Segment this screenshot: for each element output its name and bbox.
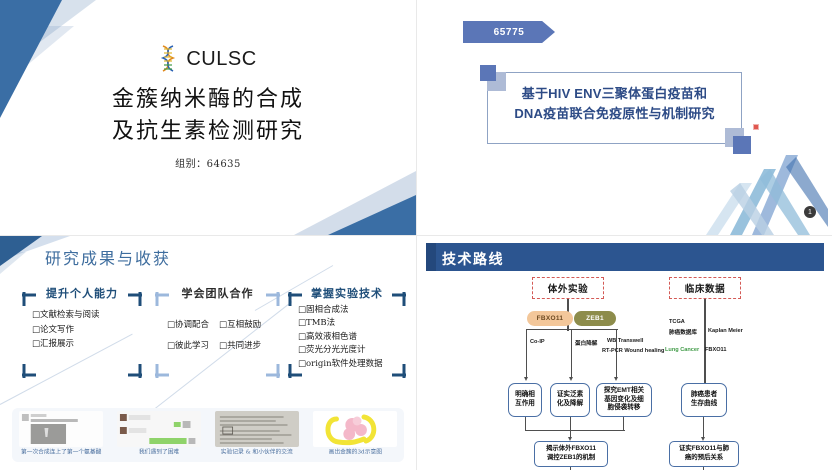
bracket-corner-tr-icon: [128, 292, 142, 306]
page-title: 基于HIV ENV三聚体蛋白疫苗和 DNA疫苗联合免疫原性与机制研究: [489, 84, 740, 124]
roadmap-diagram: 体外实验 临床数据 FBXO11 ZEB1 Co-IP 蛋白降解 WB Tran…: [426, 271, 824, 463]
results-box-teamwork: 学会团队合作 □协调配合 □互相鼓励 □彼此学习 □共同进步: [155, 292, 280, 378]
title-line-1: 金簇纳米酶的合成: [0, 84, 416, 116]
arrowhead-1: [524, 377, 528, 381]
gallery-caption: 我们遇到了困难: [139, 448, 179, 456]
slide-hiv-vaccine-title[interactable]: 65775 基于HIV ENV三聚体蛋白疫苗和 DNA疫苗联合免疫原性与机制研究…: [416, 0, 832, 235]
slide-research-results[interactable]: 研究成果与收获 提升个人能力 □文献检索与阅读 □论文写作 □汇报展示 学会团队…: [0, 235, 416, 470]
conclusion-box-invitro: 揭示体外FBXO11 调控ZEB1的机制: [534, 441, 608, 467]
list-item: □协调配合: [167, 318, 209, 333]
slide-thumbnail-grid: CULSC 金簇纳米酶的合成 及抗生素检测研究 组别：64635 65775 基…: [0, 0, 832, 470]
title-line-2: DNA疫苗联合免疫原性与机制研究: [489, 104, 740, 124]
list-item: □origin软件处理数据: [298, 358, 402, 371]
connector-clinical-trunk: [704, 299, 706, 389]
list-item: □论文写作: [32, 323, 138, 338]
logo-text: CULSC: [186, 48, 256, 71]
edge-label-lung-cancer-db: 肺癌数据库: [669, 328, 697, 336]
group-number-label: 组别：64635: [0, 155, 416, 170]
step-box-text: 证实泛素 化及降解: [557, 391, 583, 409]
list-item: □文献检索与阅读: [32, 308, 138, 323]
gallery-caption: 第一次合成连上了第一个氨基酸: [21, 448, 101, 456]
bracket-corner-bl-icon: [155, 364, 169, 378]
step-box-text: 明确相 互作用: [515, 391, 535, 409]
results-box-experiment-skills: 掌握实验技术 □固相合成法 □TMB法 □高效液相色谱 □荧光分光光度计 □or…: [288, 292, 406, 378]
edge-label-lung-cancer: Lung Cancer: [665, 347, 699, 353]
decor-square-topleft-front: [480, 65, 496, 81]
gallery-item[interactable]: 第一次合成连上了第一个氨基酸: [12, 408, 110, 462]
source-box-in-vitro: 体外实验: [532, 277, 604, 299]
list-item: □共同进步: [219, 339, 261, 354]
conclusion-text: 揭示体外FBXO11 调控ZEB1的机制: [546, 445, 596, 462]
edge-label-rtpcr-wound-healing: RT-PCR Wound healing: [602, 348, 664, 354]
results-box-personal-ability: 提升个人能力 □文献检索与阅读 □论文写作 □汇报展示: [22, 292, 142, 378]
bracket-corner-br-icon: [128, 364, 142, 378]
connector-branch-2: [571, 329, 572, 379]
edge-label-protein-degradation: 蛋白降解: [575, 339, 597, 347]
edge-label-kaplan-meier: Kaplan Meier: [708, 328, 743, 334]
gallery-caption: 实验记录 & 和小伙伴的交流: [221, 448, 293, 456]
bracket-corner-bl-icon: [22, 364, 36, 378]
connector-branch-3: [616, 329, 617, 379]
results-box-title: 学会团队合作: [169, 285, 266, 301]
slide-title-gold-nanozyme[interactable]: CULSC 金簇纳米酶的合成 及抗生素检测研究 组别：64635: [0, 0, 416, 235]
title-line-1: 基于HIV ENV三聚体蛋白疫苗和: [489, 84, 740, 104]
gallery-item[interactable]: 我们遇到了困难: [110, 408, 208, 462]
section-heading: 研究成果与收获: [45, 245, 171, 269]
edge-label-wb-transwell: WB Transwell: [607, 338, 643, 344]
gold-cluster-drawing-thumbnail-icon: [313, 411, 397, 447]
results-box-title: 掌握实验技术: [302, 285, 392, 301]
list-item: □互相鼓励: [219, 318, 261, 333]
connector-merge-bar-left: [525, 430, 625, 431]
step-box-emt: 探究EMT相关 基因变化及细 胞侵袭转移: [596, 383, 652, 417]
conclusion-box-clinical: 证实FBXO11与肺 癌的预后关系: [669, 441, 739, 467]
arrowhead-2: [569, 377, 573, 381]
results-box-items: □协调配合 □互相鼓励 □彼此学习 □共同进步: [167, 318, 276, 353]
bracket-corner-br-icon: [266, 364, 280, 378]
results-box-items: □文献检索与阅读 □论文写作 □汇报展示: [32, 308, 138, 352]
page-title: 金簇纳米酶的合成 及抗生素检测研究: [0, 84, 416, 148]
page-number: 1: [804, 206, 816, 218]
bracket-corner-tr-icon: [266, 292, 280, 306]
chat-photo-thumbnail-icon: [19, 411, 103, 447]
connector-merge-l1: [525, 417, 526, 431]
step-box-ubiquitination: 证实泛素 化及降解: [550, 383, 590, 417]
list-item: □彼此学习: [167, 339, 209, 354]
gallery-item[interactable]: 实验记录 & 和小伙伴的交流: [208, 408, 306, 462]
bracket-corner-tl-icon: [155, 292, 169, 306]
title-line-2: 及抗生素检测研究: [0, 116, 416, 148]
pill-fbxo11: FBXO11: [527, 311, 573, 326]
handwritten-notes-thumbnail-icon: [215, 411, 299, 447]
dna-helix-icon: [159, 44, 177, 74]
list-item: □高效液相色谱: [298, 331, 402, 344]
connector-merge-l3: [623, 417, 624, 431]
list-item: □荧光分光光度计: [298, 344, 402, 357]
chat-screenshot-thumbnail-icon: [117, 411, 201, 447]
arrowhead-3: [614, 377, 618, 381]
connector-branch-1: [526, 329, 527, 379]
connector-merge-l2: [570, 417, 571, 439]
photo-gallery-strip: 第一次合成连上了第一个氨基酸 我们遇到了困难: [12, 408, 404, 462]
decor-triangle-dark: [0, 236, 42, 266]
list-item: □固相合成法: [298, 304, 402, 317]
edge-label-fbxo11: FBXO11: [705, 347, 726, 353]
slide-number-badge: 65775: [463, 21, 555, 43]
gallery-caption: 画出金簇的3d示意图: [328, 448, 381, 456]
step-box-text: 肺癌患者 生存曲线: [691, 391, 717, 409]
results-box-items: □固相合成法 □TMB法 □高效液相色谱 □荧光分光光度计 □origin软件处…: [298, 304, 402, 371]
bracket-corner-tl-icon: [22, 292, 36, 306]
results-box-title: 提升个人能力: [38, 285, 126, 301]
gallery-item[interactable]: 画出金簇的3d示意图: [306, 408, 404, 462]
section-header-accent: [426, 243, 436, 271]
decor-triangle-bottom-dark: [328, 195, 416, 235]
section-heading: 技术路线: [442, 249, 504, 269]
edge-label-tcga: TCGA: [669, 319, 685, 325]
list-item: □TMB法: [298, 317, 402, 330]
slide-technical-roadmap[interactable]: 技术路线 体外实验 临床数据 FBXO11 ZEB1 Co-IP 蛋白降解 WB…: [416, 235, 832, 470]
decor-red-dot: [753, 124, 759, 130]
pill-zeb1: ZEB1: [574, 311, 616, 326]
edge-label-co-ip: Co-IP: [530, 339, 545, 345]
source-box-clinical-data: 临床数据: [669, 277, 741, 299]
step-box-survival-curve: 肺癌患者 生存曲线: [681, 383, 727, 417]
connector-clinical-down: [703, 417, 704, 439]
conclusion-text: 证实FBXO11与肺 癌的预后关系: [679, 445, 729, 462]
brand-logo: CULSC: [0, 44, 416, 74]
step-box-interaction: 明确相 互作用: [508, 383, 542, 417]
decor-chevron-pattern: [700, 149, 828, 235]
list-item: □汇报展示: [32, 337, 138, 352]
step-box-text: 探究EMT相关 基因变化及细 胞侵袭转移: [604, 387, 644, 414]
